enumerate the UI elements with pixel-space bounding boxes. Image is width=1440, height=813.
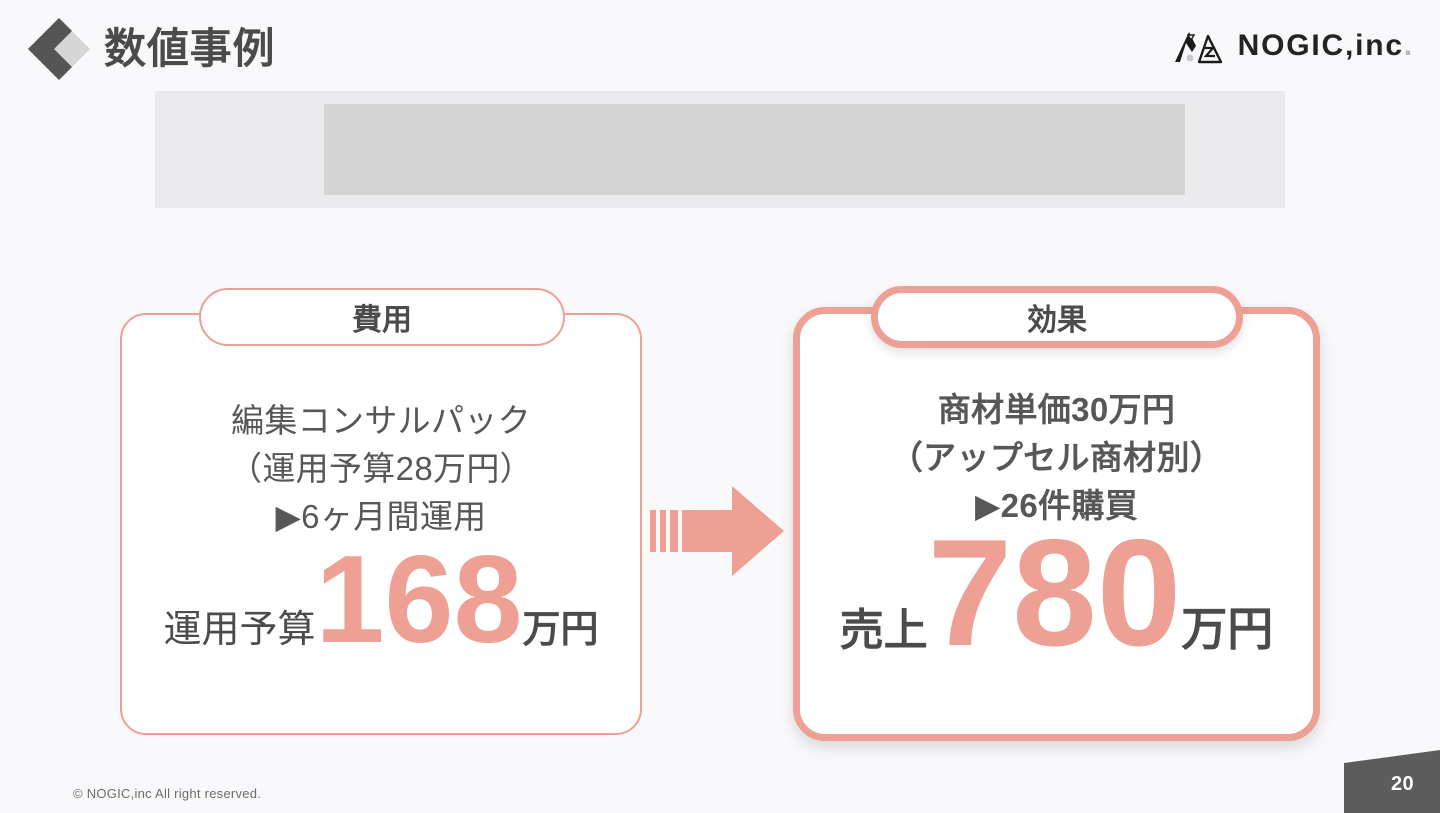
placeholder-block-inner (324, 104, 1185, 195)
effect-metric-label: 売上 (840, 594, 928, 658)
effect-desc-line-2: （アップセル商材別） (800, 434, 1313, 482)
cost-metric-unit: 万円 (522, 598, 598, 653)
corp-logo-name: NOGIC,inc (1238, 29, 1404, 62)
mountain-mark-icon (1172, 26, 1224, 66)
page-number: 20 (1391, 773, 1414, 796)
cost-card-pill: 費用 (199, 288, 565, 346)
cost-metric-value: 168 (316, 547, 523, 654)
corp-logo-dot: . (1404, 29, 1414, 62)
cost-card: 編集コンサルパック （運用予算28万円） ▶6ヶ月間運用 運用予算168万円 (120, 313, 642, 735)
effect-metric-value: 780 (928, 528, 1182, 659)
diamond-chevron-icon (26, 16, 92, 82)
cost-metric-label: 運用予算 (164, 598, 316, 653)
footer-copyright: © NOGIC,inc All right reserved. (73, 786, 261, 801)
cost-metric: 運用予算168万円 (122, 547, 640, 654)
corp-logo: NOGIC,inc. (1172, 26, 1414, 66)
cost-desc-line-2: （運用予算28万円） (122, 445, 640, 493)
cost-card-description: 編集コンサルパック （運用予算28万円） ▶6ヶ月間運用 (122, 397, 640, 541)
slide-canvas: 数値事例 NOGIC,inc. 編集コンサルパック （運用予算28万円） ▶6ヶ… (0, 0, 1440, 813)
cost-desc-line-1: 編集コンサルパック (122, 397, 640, 445)
effect-desc-line-1: 商材単価30万円 (800, 386, 1313, 434)
page-title: 数値事例 (104, 18, 275, 80)
effect-card: 商材単価30万円 （アップセル商材別） ▶26件購買 売上780万円 (793, 307, 1320, 741)
slide-header: 数値事例 NOGIC,inc. (0, 0, 1440, 92)
effect-metric-unit: 万円 (1181, 593, 1273, 659)
right-arrow-icon (650, 486, 785, 576)
effect-metric: 売上780万円 (800, 528, 1313, 659)
corp-logo-text: NOGIC,inc. (1238, 29, 1414, 63)
effect-card-pill: 効果 (871, 286, 1243, 348)
